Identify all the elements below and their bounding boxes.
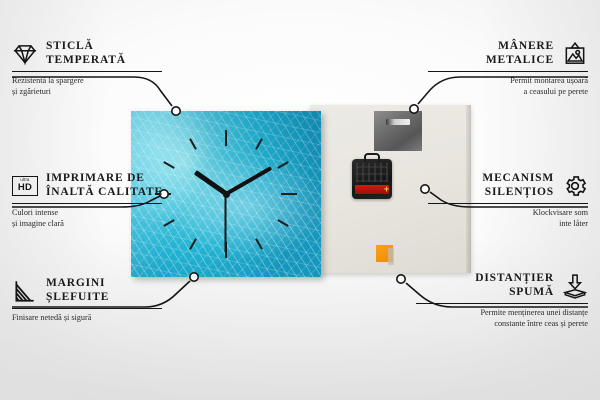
diamond-icon (12, 41, 38, 67)
clock-center-pivot (223, 191, 230, 198)
second-hand (225, 194, 227, 252)
clock-mechanism: + (352, 159, 392, 199)
picture-frame-hanger-icon (562, 41, 588, 67)
feature-divider (428, 71, 588, 72)
feature-header: MARGINI ȘLEFUITE (12, 277, 162, 304)
feature-header: MÂNERE METALICE (428, 40, 588, 67)
clock-tick (281, 193, 297, 195)
feature-title: MÂNERE METALICE (486, 40, 554, 67)
feature-header: ultra HD IMPRIMARE DE ÎNALTĂ CALITATE (12, 172, 162, 199)
infographic-canvas: + (0, 0, 600, 400)
feature-description: Permit montarea ușoară a ceasului pe per… (428, 75, 588, 97)
feature-divider (428, 203, 588, 204)
feature-imprimare-hd[interactable]: ultra HD IMPRIMARE DE ÎNALTĂ CALITATE Cu… (12, 172, 162, 229)
feature-divider (416, 303, 588, 304)
metal-hanger-plate (374, 111, 422, 151)
feature-header: DISTANȚIER SPUMĂ (416, 272, 588, 299)
hanger-slot (386, 119, 410, 125)
feature-manere-metalice[interactable]: MÂNERE METALICE Permit montarea ușoară a… (428, 40, 588, 97)
polished-edge-icon (12, 278, 38, 304)
feature-distantier-spuma[interactable]: DISTANȚIER SPUMĂ Permite menținerea unei… (416, 272, 588, 329)
feature-title: MECANISM SILENȚIOS (482, 172, 554, 199)
feature-mecanism-silentios[interactable]: MECANISM SILENȚIOS Klockvisare som inte … (428, 172, 588, 229)
feature-description: Culori intense și imagine clară (12, 207, 162, 229)
arrow-down-pad-icon (562, 273, 588, 299)
feature-description: Permite menținerea unei distanțe constan… (416, 307, 588, 329)
mechanism-loop (364, 153, 380, 162)
feature-header: STICLĂ TEMPERATĂ (12, 40, 162, 67)
feature-header: MECANISM SILENȚIOS (428, 172, 588, 199)
gear-icon (562, 173, 588, 199)
feature-title: DISTANȚIER SPUMĂ (475, 272, 554, 299)
foam-spacer (376, 245, 393, 262)
feature-margini-slefuite[interactable]: MARGINI ȘLEFUITE Finisare netedă și sigu… (12, 277, 162, 323)
product-image: + (131, 105, 471, 277)
feature-title: STICLĂ TEMPERATĂ (46, 40, 126, 67)
feature-description: Finisare netedă și sigură (12, 312, 162, 323)
ultra-hd-icon: ultra HD (12, 176, 38, 196)
feature-description: Rezistentă la spargere și zgârieturi (12, 75, 162, 97)
feature-title: IMPRIMARE DE ÎNALTĂ CALITATE (46, 172, 163, 199)
feature-description: Klockvisare som inte låter (428, 207, 588, 229)
feature-title: MARGINI ȘLEFUITE (46, 277, 109, 304)
feature-divider (12, 203, 162, 204)
mechanism-grid (356, 163, 388, 182)
clock-tick (225, 130, 227, 146)
feature-divider (12, 71, 162, 72)
feature-sticla-temperata[interactable]: STICLĂ TEMPERATĂ Rezistentă la spargere … (12, 40, 162, 97)
battery-plus-marking: + (383, 185, 390, 194)
feature-divider (12, 308, 162, 309)
